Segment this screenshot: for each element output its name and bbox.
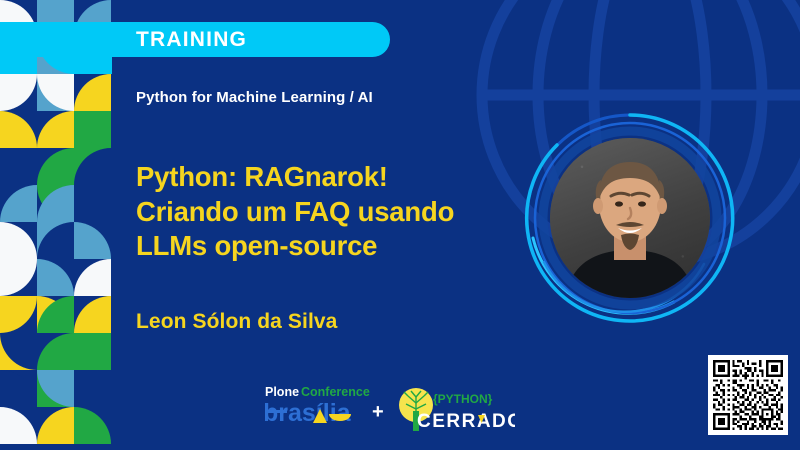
footer-logos: Plone Conference brasília + {PYTHON} CER… [265, 383, 515, 435]
session-title-line-1: Python: RAGnarok! [136, 160, 536, 195]
plone-word: Plone [265, 385, 299, 399]
qr-code-matrix [713, 360, 783, 430]
session-title-line-2: Criando um FAQ usando [136, 195, 536, 230]
logo-separator: + [372, 401, 384, 423]
cerrado-word: CERRADO [417, 411, 515, 432]
speaker-photo [550, 138, 710, 298]
qr-code[interactable] [708, 355, 788, 435]
training-badge-label: TRAINING [136, 22, 247, 57]
bauhaus-pattern [0, 0, 112, 450]
track-label: Python for Machine Learning / AI [136, 89, 373, 106]
speaker-name: Leon Sólon da Silva [136, 310, 337, 334]
session-title-line-3: LLMs open-source [136, 229, 536, 264]
presentation-slide: TRAINING Python for Machine Learning / A… [0, 0, 800, 450]
session-title: Python: RAGnarok! Criando um FAQ usando … [136, 160, 536, 264]
photo-figure [550, 138, 710, 298]
conference-word: Conference [301, 385, 370, 399]
python-word: {PYTHON} [433, 392, 493, 406]
speaker-portrait [524, 112, 736, 324]
